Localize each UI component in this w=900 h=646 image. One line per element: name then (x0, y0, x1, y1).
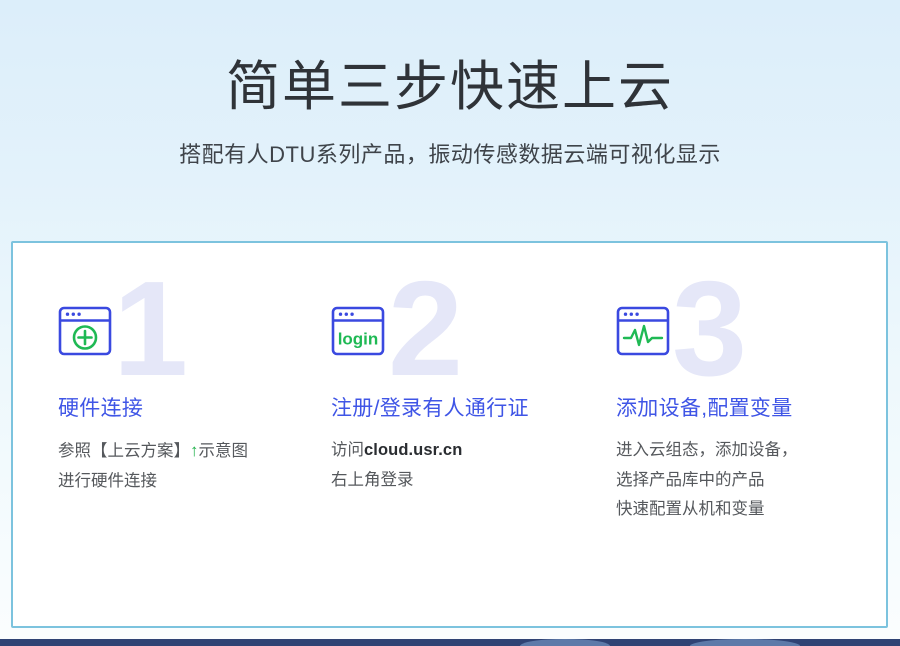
step-body-line: 访问cloud.usr.cn (331, 436, 610, 465)
step-body-line: 快速配置从机和变量 (616, 495, 890, 524)
step-body-1: 参照【上云方案】↑示意图 进行硬件连接 (58, 421, 318, 496)
browser-window-waveform-icon (616, 306, 670, 356)
promo-page: 简单三步快速上云 搭配有人DTU系列产品，振动传感数据云端可视化显示 1 (0, 0, 900, 646)
step-body-line: 进行硬件连接 (58, 467, 318, 496)
cloud-url-text: cloud.usr.cn (364, 441, 462, 459)
step-heading-3: 添加设备,配置变量 (616, 356, 890, 421)
step-body-line: 进入云组态，添加设备， (616, 436, 890, 465)
page-header: 简单三步快速上云 搭配有人DTU系列产品，振动传感数据云端可视化显示 (0, 0, 900, 171)
page-title: 简单三步快速上云 (0, 0, 900, 120)
step-heading-1: 硬件连接 (58, 356, 318, 421)
bottom-section-strip (0, 639, 900, 646)
step-item-3: 3 添加设备,配置变量 进入云组态，添加设备， 选择产品库中的产品 (610, 243, 890, 626)
steps-card: 1 硬件连接 参照【上云方案】↑示意图 (11, 241, 888, 628)
strip-glow (520, 639, 610, 646)
step-body-3: 进入云组态，添加设备， 选择产品库中的产品 快速配置从机和变量 (616, 421, 890, 524)
browser-window-plus-icon (58, 306, 112, 356)
browser-window-login-icon: login (331, 306, 385, 356)
step-body-text: 参照【上云方案】 (58, 442, 190, 460)
step-body-text: 示意图 (199, 442, 249, 460)
svg-text:login: login (338, 330, 379, 349)
step-body-line: 参照【上云方案】↑示意图 (58, 436, 318, 466)
step-body-text: 访问 (331, 441, 364, 459)
arrow-up-icon: ↑ (190, 441, 199, 460)
strip-glow (690, 639, 800, 646)
steps-row: 1 硬件连接 参照【上云方案】↑示意图 (13, 243, 886, 626)
step-body-line: 选择产品库中的产品 (616, 466, 890, 495)
page-subtitle: 搭配有人DTU系列产品，振动传感数据云端可视化显示 (0, 120, 900, 171)
step-item-2: 2 login 注册/登录有人通行证 访问cloud.usr.cn 右上角登录 (318, 243, 610, 626)
step-body-line: 右上角登录 (331, 466, 610, 495)
step-body-2: 访问cloud.usr.cn 右上角登录 (331, 421, 610, 495)
step-heading-2: 注册/登录有人通行证 (331, 356, 610, 421)
step-item-1: 1 硬件连接 参照【上云方案】↑示意图 (13, 243, 318, 626)
